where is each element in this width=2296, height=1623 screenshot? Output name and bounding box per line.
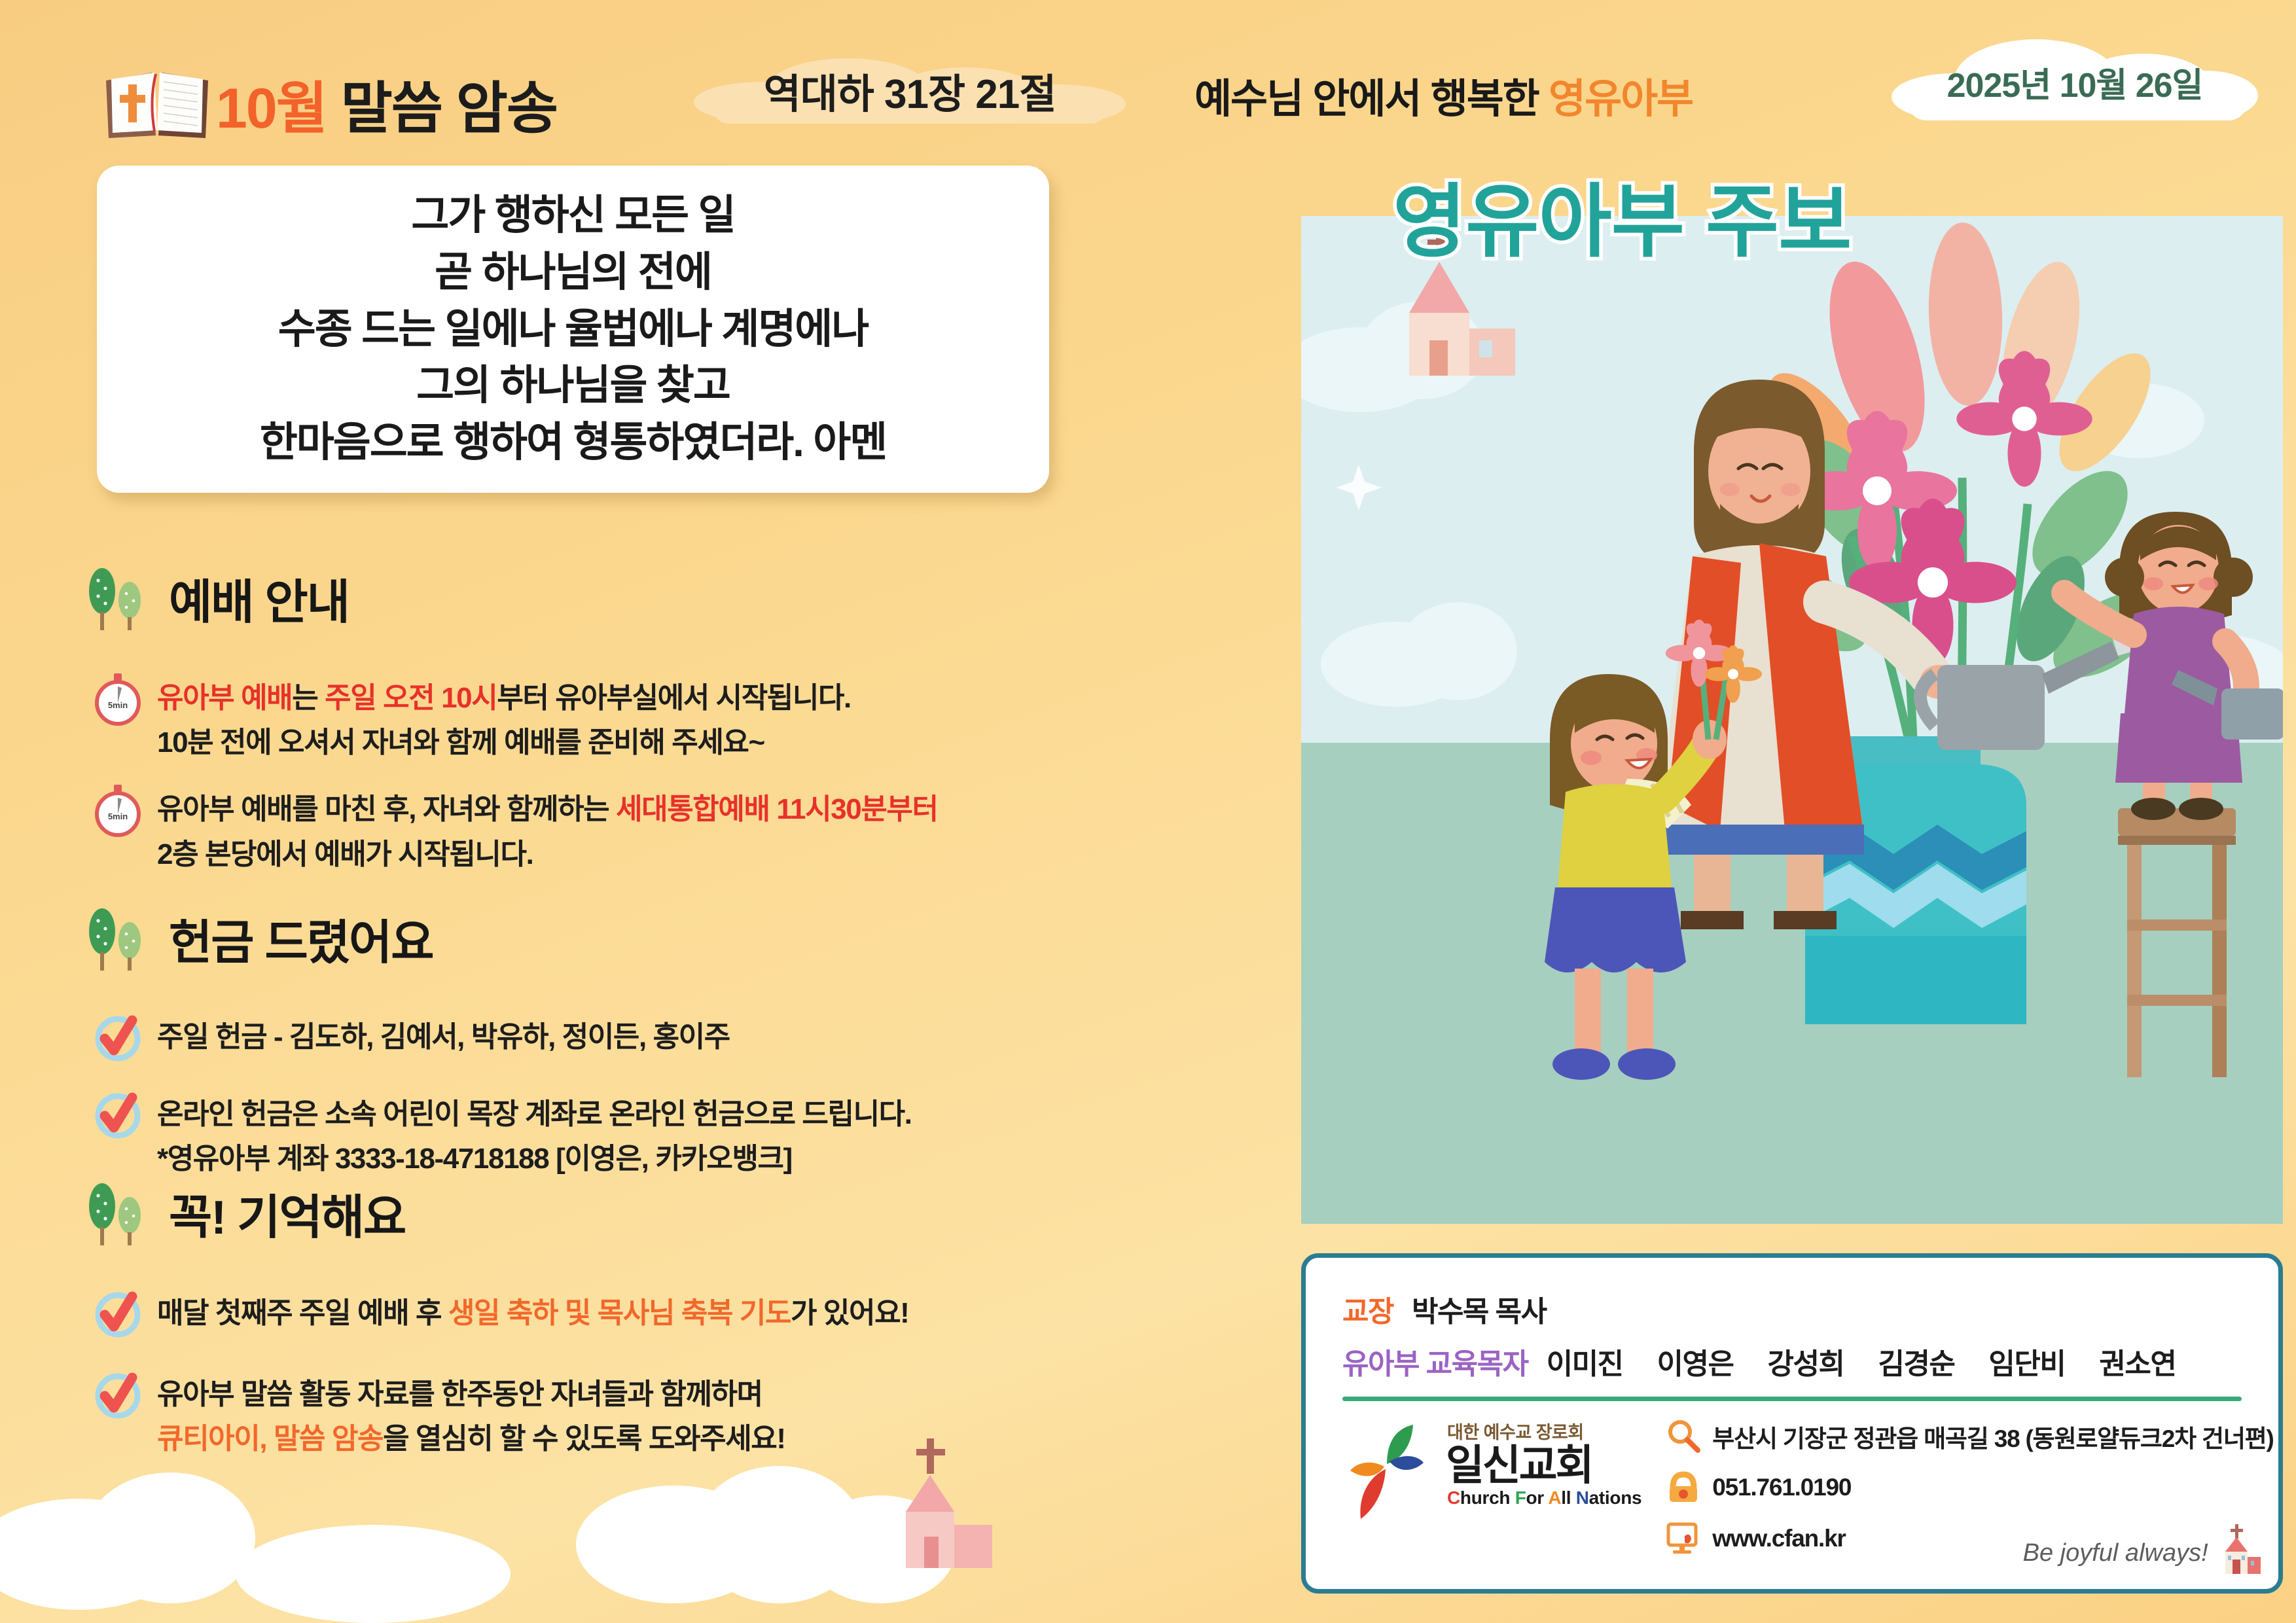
- right-content-column: 영유아부 주보: [1249, 0, 2296, 1623]
- section-title: 꼭! 기억해요: [169, 1179, 405, 1247]
- magnifier-icon: [1665, 1418, 1702, 1455]
- tree-icon: [84, 906, 156, 972]
- stopwatch-icon: 5min: [92, 785, 144, 837]
- date-cloud: 2025년 10월 26일: [1892, 39, 2258, 124]
- bullet-item: 5min 유아부 예배를 마친 후, 자녀와 함께하는 세대통합예배 11시30…: [0, 787, 1113, 876]
- bullet-item: 주일 헌금 - 김도하, 김예서, 박유하, 정이든, 홍이주: [0, 1015, 1113, 1060]
- teacher-name: 권소연: [2099, 1340, 2176, 1382]
- church-info-card: 교장 박수목 목사 유아부 교육목자 이미진 이영은 강성희 김경순 임단비 권…: [1301, 1253, 2283, 1594]
- scripture-reference-cloud: 역대하 31장 21절: [694, 56, 1126, 124]
- bulletin-date: 2025년 10월 26일: [1892, 39, 2258, 124]
- page-title-month: 10월: [216, 77, 327, 140]
- teacher-name: 강성희: [1768, 1340, 1844, 1382]
- bullet-line: 10분 전에 오셔서 자녀와 함께 예배를 준비해 주세요~: [157, 721, 1113, 765]
- bullet-line: 2층 본당에서 예배가 시작됩니다.: [157, 832, 1113, 877]
- teacher-name: 김경순: [1878, 1340, 1954, 1382]
- section-worship-guide: 예배 안내 5min 유아부 예배는 주일 오전 10시부터 유아부실에서 시작…: [0, 560, 1113, 877]
- church-logo: 대한 예수교 장로회 일신교회 Church For All Nations: [1342, 1418, 1641, 1508]
- check-icon: [92, 1370, 144, 1422]
- pinwheel-cross-logo-icon: [1349, 1422, 1426, 1520]
- scripture-reference: 역대하 31장 21절: [694, 56, 1126, 124]
- bullet-line: 온라인 헌금은 소속 어린이 목장 계좌로 온라인 헌금으로 드립니다.: [157, 1092, 1113, 1137]
- tree-icon: [84, 566, 156, 632]
- section-remember: 꼭! 기억해요 매달 첫째주 주일 예배 후 생일 축하 및 목사님 축복 기도…: [0, 1175, 1113, 1462]
- principal-label: 교장: [1342, 1288, 1393, 1330]
- card-divider: [1342, 1397, 2242, 1401]
- logo-english-name: Church For All Nations: [1447, 1488, 1641, 1508]
- principal-row: 교장 박수목 목사: [1342, 1288, 2242, 1330]
- check-icon: [92, 1289, 144, 1341]
- teacher-name: 이영은: [1657, 1340, 1734, 1382]
- section-title: 예배 안내: [169, 563, 349, 632]
- logo-church-name: 일신교회: [1446, 1444, 1641, 1488]
- section-offering: 헌금 드렸어요 주일 헌금 - 김도하, 김예서, 박유하, 정이든, 홍이주 …: [0, 900, 1113, 1182]
- monitor-icon: [1665, 1520, 1702, 1557]
- bible-icon: [98, 62, 216, 144]
- verse-line: 그가 행하신 모든 일: [411, 187, 734, 244]
- bullet-line: 큐티아이, 말씀 암송을 열심히 할 수 있도록 도와주세요!: [157, 1417, 1113, 1461]
- check-icon: [92, 1012, 144, 1065]
- bullet-item: 5min 유아부 예배는 주일 오전 10시부터 유아부실에서 시작됩니다. 1…: [0, 676, 1113, 765]
- tree-icon: [84, 1181, 156, 1247]
- svg-text:5min: 5min: [108, 811, 128, 821]
- contact-block: 부산시 기장군 정관읍 매곡길 38 (동원로얄듀크2차 건너편) 051.76…: [1641, 1418, 2273, 1571]
- teachers-label: 유아부 교육목자: [1342, 1340, 1528, 1382]
- check-icon: [92, 1090, 144, 1142]
- stopwatch-icon: 5min: [92, 673, 144, 726]
- stool-illustration: [2118, 808, 2236, 1077]
- memory-verse-card: 그가 행하신 모든 일 곧 하나님의 전에 수종 드는 일에나 율법에나 계명에…: [97, 166, 1049, 493]
- logo-denomination: 대한 예수교 장로회: [1447, 1418, 1641, 1444]
- illustration-jesus-with-children: [1301, 216, 2283, 1224]
- bullet-line: 유아부 말씀 활동 자료를 한주동안 자녀들과 함께하며: [157, 1372, 1113, 1417]
- svg-text:5min: 5min: [108, 700, 128, 710]
- verse-line: 수종 드는 일에나 율법에나 계명에나: [278, 301, 868, 358]
- verse-line: 그의 하나님을 찾고: [416, 357, 730, 414]
- church-icon: [2212, 1523, 2262, 1575]
- verse-line: 한마음으로 행하여 형통하였더라. 아멘: [260, 414, 886, 471]
- illustration-artwork: [1301, 216, 2283, 1224]
- bullet-item: 온라인 헌금은 소속 어린이 목장 계좌로 온라인 헌금으로 드립니다. *영유…: [0, 1092, 1113, 1181]
- bullet-item: 유아부 말씀 활동 자료를 한주동안 자녀들과 함께하며 큐티아이, 말씀 암송…: [0, 1372, 1113, 1461]
- bullet-line: 유아부 예배는 주일 오전 10시부터 유아부실에서 시작됩니다.: [157, 676, 1113, 721]
- phone-text: 051.761.0190: [1712, 1474, 1851, 1501]
- left-content-column: 그가 행하신 모든 일 곧 하나님의 전에 수종 드는 일에나 율법에나 계명에…: [0, 151, 1113, 1623]
- address-line: 부산시 기장군 정관읍 매곡길 38 (동원로얄듀크2차 건너편): [1665, 1418, 2273, 1455]
- teacher-name: 임단비: [1988, 1340, 2065, 1382]
- teachers-row: 유아부 교육목자 이미진 이영은 강성희 김경순 임단비 권소연: [1342, 1340, 2242, 1382]
- phone-icon: [1665, 1469, 1702, 1506]
- section-title: 헌금 드렸어요: [169, 904, 433, 972]
- bullet-item: 매달 첫째주 주일 예배 후 생일 축하 및 목사님 축복 기도가 있어요!: [0, 1291, 1113, 1336]
- address-text: 부산시 기장군 정관읍 매곡길 38 (동원로얄듀크2차 건너편): [1712, 1419, 2273, 1454]
- bullet-line: 주일 헌금 - 김도하, 김예서, 박유하, 정이든, 홍이주: [157, 1015, 1113, 1060]
- bullet-line: 유아부 예배를 마친 후, 자녀와 함께하는 세대통합예배 11시30분부터: [157, 787, 1113, 832]
- phone-line[interactable]: 051.761.0190: [1665, 1469, 2273, 1506]
- verse-line: 곧 하나님의 전에: [435, 244, 711, 301]
- teacher-name: 이미진: [1547, 1340, 1623, 1382]
- bullet-line: 매달 첫째주 주일 예배 후 생일 축하 및 목사님 축복 기도가 있어요!: [157, 1291, 1113, 1336]
- page-title: 10월 말씀 암송: [216, 62, 557, 144]
- principal-name: 박수목 목사: [1412, 1288, 1547, 1330]
- bulletin-title: 영유아부 주보: [1393, 157, 1851, 273]
- tagline: Be joyful always!: [2023, 1539, 2208, 1567]
- page-title-rest: 말씀 암송: [327, 77, 557, 140]
- website-text: www.cfan.kr: [1712, 1525, 1845, 1552]
